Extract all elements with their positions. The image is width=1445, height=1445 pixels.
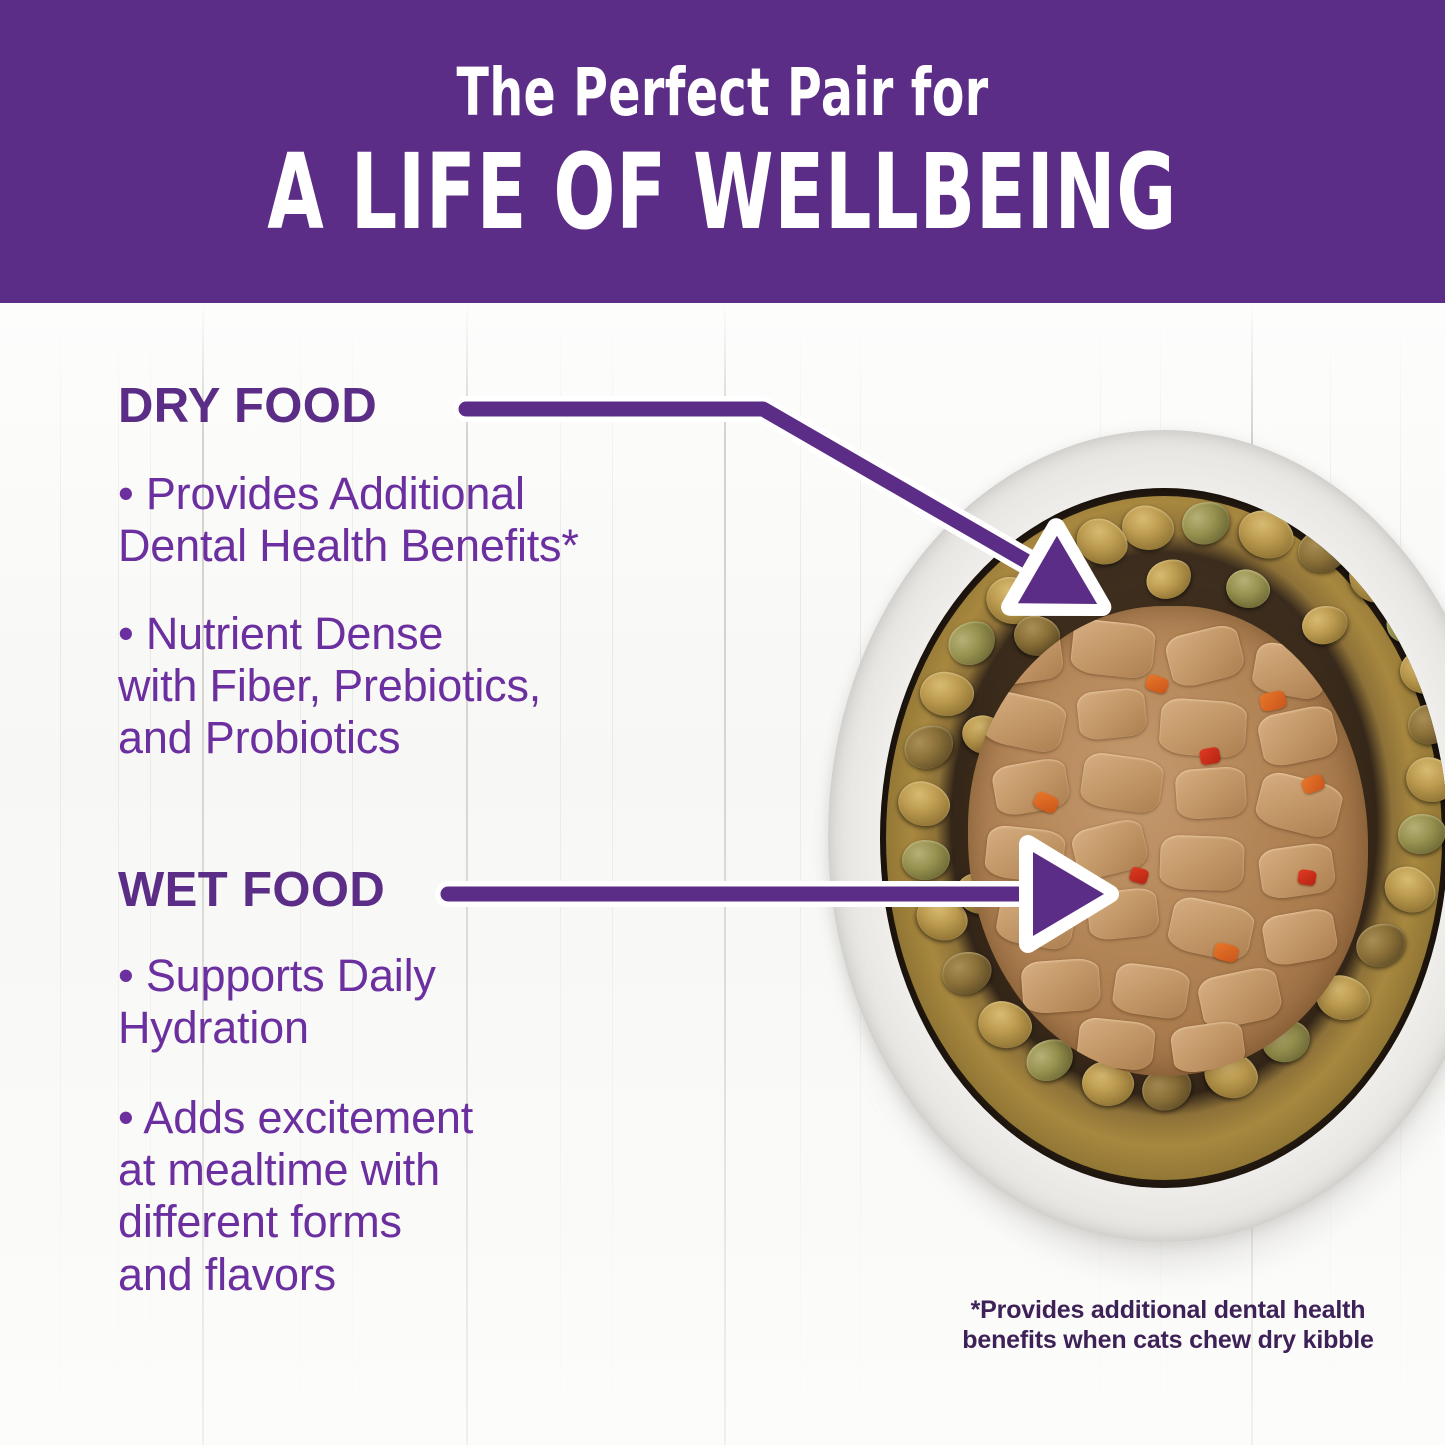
bullet-line: at mealtime with (118, 1144, 798, 1196)
bullet-line: • Supports Daily (118, 950, 798, 1002)
footnote-line: *Provides additional dental health (958, 1296, 1378, 1326)
bullet-dry-food-1: • Provides Additional Dental Health Bene… (118, 468, 798, 572)
plank-seam (1251, 303, 1253, 1445)
section-title-dry-food: DRY FOOD (118, 378, 377, 434)
wood-grain (1100, 303, 1101, 1445)
bullet-line: • Provides Additional (118, 468, 798, 520)
banner-headline-line1: The Perfect Pair for (456, 60, 988, 126)
footnote-text: *Provides additional dental health benef… (958, 1296, 1378, 1355)
wood-grain (60, 303, 61, 1445)
section-title-wet-food: WET FOOD (118, 862, 385, 918)
bullet-line: Dental Health Benefits* (118, 520, 798, 572)
bullet-line: different forms (118, 1196, 798, 1248)
bullet-wet-food-1: • Supports Daily Hydration (118, 950, 798, 1054)
bullet-line: and Probiotics (118, 712, 798, 764)
banner-headline-line2: A LIFE OF WELLBEING (268, 140, 1178, 244)
bullet-dry-food-2: • Nutrient Dense with Fiber, Prebiotics,… (118, 608, 798, 765)
wood-grain (1400, 303, 1401, 1445)
wood-grain (800, 303, 801, 1445)
wood-grain (1160, 303, 1161, 1445)
infographic-page: The Perfect Pair for A LIFE OF WELLBEING (0, 0, 1445, 1445)
bullet-line: Hydration (118, 1002, 798, 1054)
footnote-line: benefits when cats chew dry kibble (958, 1326, 1378, 1356)
bullet-line: • Adds excitement (118, 1092, 798, 1144)
bullet-line: and flavors (118, 1249, 798, 1301)
header-banner: The Perfect Pair for A LIFE OF WELLBEING (0, 0, 1445, 303)
bullet-line: • Nutrient Dense (118, 608, 798, 660)
wood-grain (860, 303, 861, 1445)
bullet-line: with Fiber, Prebiotics, (118, 660, 798, 712)
bullet-wet-food-2: • Adds excitement at mealtime with diffe… (118, 1092, 798, 1301)
wood-grain (1330, 303, 1331, 1445)
